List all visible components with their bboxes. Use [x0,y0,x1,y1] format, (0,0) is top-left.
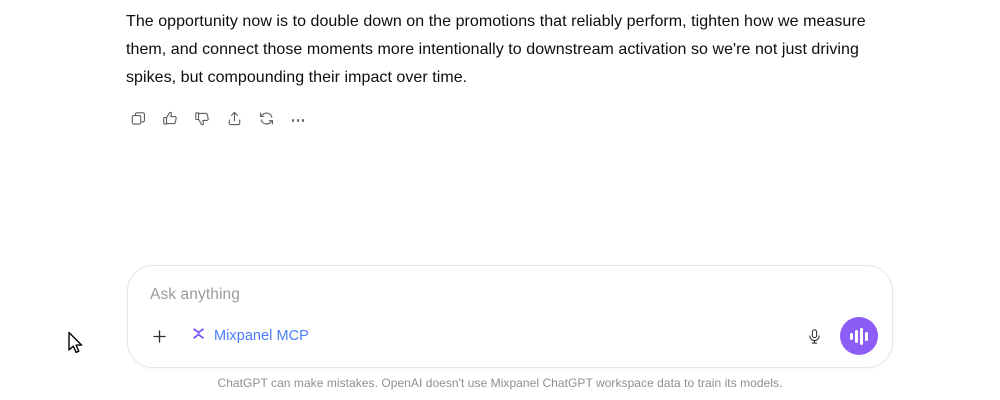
assistant-message: The opportunity now is to double down on… [126,8,886,92]
thumbs-up-button[interactable] [156,104,184,132]
thumbs-down-button[interactable] [188,104,216,132]
composer-input[interactable]: Ask anything [150,284,870,306]
mouse-cursor-arrow-pointer [67,331,85,355]
copy-icon [130,110,147,127]
share-button[interactable] [220,104,248,132]
plus-icon [150,327,169,346]
thumbs-down-icon [194,110,211,127]
waveform-icon [850,327,867,345]
more-options-button[interactable] [284,104,312,132]
share-upload-icon [226,110,243,127]
dictate-button[interactable] [800,322,828,350]
message-composer[interactable]: Ask anything Mixpanel MCP [127,265,893,368]
thumbs-up-icon [162,110,179,127]
mcp-connector-label: Mixpanel MCP [214,328,309,344]
assistant-message-text: The opportunity now is to double down on… [126,8,886,92]
voice-mode-button[interactable] [840,317,878,355]
more-options-icon [290,109,306,127]
mixpanel-logo-icon [190,325,207,347]
composer-toolbar: Mixpanel MCP [128,317,892,355]
microphone-icon [806,328,823,345]
copy-button[interactable] [124,104,152,132]
message-action-toolbar [124,104,312,132]
composer-input-wrapper[interactable]: Ask anything [150,284,870,306]
regenerate-icon [258,110,275,127]
regenerate-button[interactable] [252,104,280,132]
footer-disclaimer: ChatGPT can make mistakes. OpenAI doesn'… [0,376,1000,390]
composer-actions [800,317,878,355]
mcp-connector-chip[interactable]: Mixpanel MCP [184,322,315,350]
add-attachment-button[interactable] [144,321,174,351]
